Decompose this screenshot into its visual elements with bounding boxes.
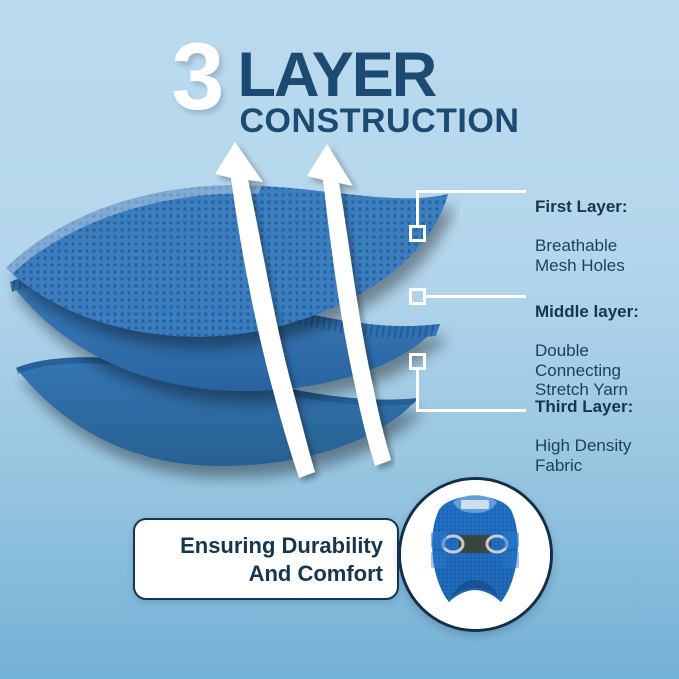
callout-connector-third-vertical bbox=[416, 368, 419, 412]
callout-connector-first-horizontal bbox=[416, 190, 526, 193]
tagline-banner: Ensuring Durability And Comfort bbox=[133, 518, 399, 600]
layer-construction-infographic: 3 LAYER CONSTRUCTION bbox=[0, 0, 679, 679]
dog-harness-photo bbox=[401, 480, 550, 629]
callout-connector-first-vertical bbox=[416, 190, 419, 228]
callout-connector-third-horizontal bbox=[416, 409, 526, 412]
title-main-word: LAYER bbox=[238, 44, 436, 107]
page-title: 3 LAYER CONSTRUCTION bbox=[0, 36, 679, 146]
callout-connector-middle-horizontal bbox=[424, 295, 526, 298]
title-number: 3 bbox=[172, 30, 221, 125]
callout-body-third: High Density Fabric bbox=[535, 436, 675, 475]
callout-heading-middle: Middle layer: bbox=[535, 302, 675, 322]
tagline-text: Ensuring Durability And Comfort bbox=[135, 532, 389, 588]
callout-heading-first: First Layer: bbox=[535, 197, 675, 217]
callout-text-first: First Layer: Breathable Mesh Holes bbox=[535, 178, 675, 294]
title-sub-word: CONSTRUCTION bbox=[240, 104, 520, 138]
product-photo-circle bbox=[398, 477, 553, 632]
title-inner: 3 LAYER CONSTRUCTION bbox=[170, 36, 510, 146]
callout-heading-third: Third Layer: bbox=[535, 397, 675, 417]
callout-text-third: Third Layer: High Density Fabric bbox=[535, 378, 675, 494]
fabric-layers-illustration bbox=[0, 150, 460, 490]
callout-body-first: Breathable Mesh Holes bbox=[535, 236, 675, 275]
